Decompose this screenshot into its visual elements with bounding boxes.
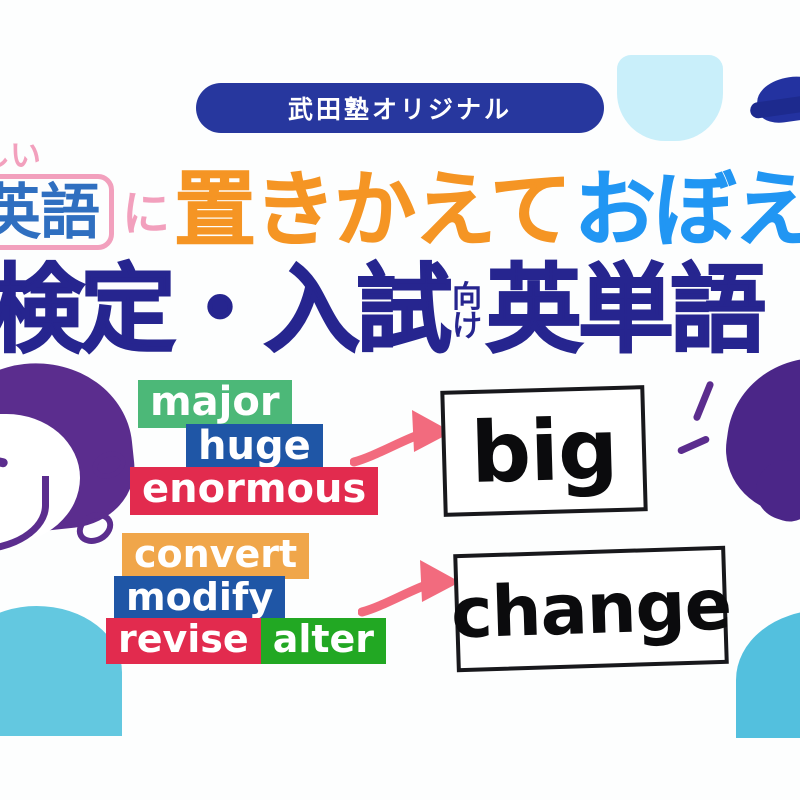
headline-small-muke: 向 け: [452, 284, 482, 341]
excitement-line-icon: [692, 380, 714, 422]
word-chip-modify[interactable]: modify: [114, 576, 285, 622]
original-badge: 武田塾オリジナル: [196, 83, 604, 133]
answer-box-change[interactable]: change: [453, 546, 729, 672]
answer-box-big[interactable]: big: [440, 385, 647, 517]
word-group-change: convert modify revisealter: [106, 533, 386, 664]
headline-line-1: しい 英語 に 置きかえて おぼえ: [0, 140, 800, 250]
headline-line2-before: 検定・入試: [0, 266, 448, 355]
excitement-line-icon: [677, 435, 711, 455]
word-chip-huge[interactable]: huge: [186, 424, 323, 472]
particle-ni: に: [122, 174, 170, 244]
left-character-body: [0, 606, 122, 736]
right-character-body: [736, 610, 800, 738]
small-muke-bottom: け: [452, 313, 482, 342]
word-chip-enormous[interactable]: enormous: [130, 467, 378, 515]
word-chip-major[interactable]: major: [138, 380, 292, 428]
headline-blue-text: おぼえ: [574, 172, 800, 250]
cyan-blob-decoration: [617, 55, 723, 141]
answer-label-big: big: [470, 400, 619, 502]
original-badge-label: 武田塾オリジナル: [288, 90, 512, 126]
headline-line-2: 検定・入試 向 け 英単語: [0, 243, 800, 355]
word-chip-revise[interactable]: revise: [106, 618, 261, 664]
headline-orange-text: 置きかえて: [174, 172, 570, 250]
boxed-word-label: 英語: [0, 178, 99, 248]
boxed-word-eigo: しい 英語: [0, 174, 114, 250]
banner-canvas: 武田塾オリジナル しい 英語 に 置きかえて おぼえ 検定・入試 向 け 英単語…: [0, 0, 800, 800]
ruby-text-shii: しい: [0, 141, 41, 172]
word-group-big: major huge enormous: [130, 380, 378, 515]
word-chip-convert[interactable]: convert: [122, 533, 309, 579]
headline-line2-after: 英単語: [486, 266, 762, 355]
answer-label-change: change: [450, 564, 732, 655]
